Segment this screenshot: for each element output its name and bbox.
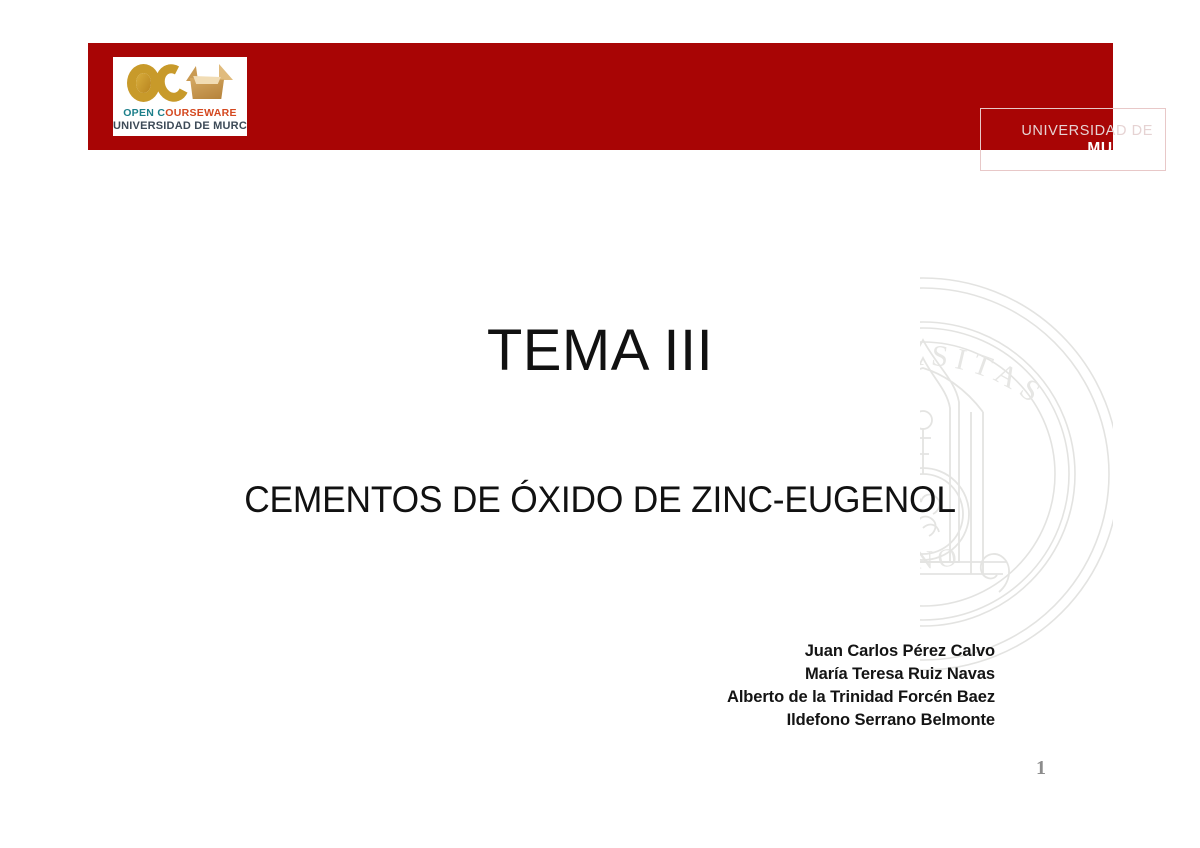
author-list: Juan Carlos Pérez Calvo María Teresa Rui…	[395, 640, 995, 732]
page-subtitle: CEMENTOS DE ÓXIDO DE ZINC-EUGENOL	[27, 481, 1173, 518]
open-box-icon	[185, 66, 231, 99]
ocw-wordmark: OPEN COURSEWARE	[113, 107, 247, 119]
university-badge-line2: MURCIA	[1087, 140, 1153, 158]
author-name: Ildefono Serrano Belmonte	[395, 709, 995, 732]
ocw-wordmark-courseware: OURSEWARE	[165, 107, 237, 119]
ocw-institution-label: UNIVERSIDAD DE MURCIA	[113, 120, 247, 132]
author-name: Alberto de la Trinidad Forcén Baez	[395, 686, 995, 709]
page-number: 1	[1036, 757, 1046, 780]
author-name: Juan Carlos Pérez Calvo	[395, 640, 995, 663]
author-name: María Teresa Ruiz Navas	[395, 663, 995, 686]
university-badge: UNIVERSIDAD DE MURCIA	[980, 108, 1166, 171]
university-badge-line1: UNIVERSIDAD DE	[1021, 123, 1153, 139]
ocw-logo-icon	[113, 58, 247, 108]
page-title: TEMA III	[0, 322, 1200, 380]
ocw-wordmark-open: OPEN C	[123, 107, 165, 119]
slide-canvas: UNIVERSIDAD DE MURCIA OPEN COURSEWARE UN…	[0, 0, 1200, 848]
ocw-logo: OPEN COURSEWARE UNIVERSIDAD DE MURCIA	[113, 57, 247, 136]
